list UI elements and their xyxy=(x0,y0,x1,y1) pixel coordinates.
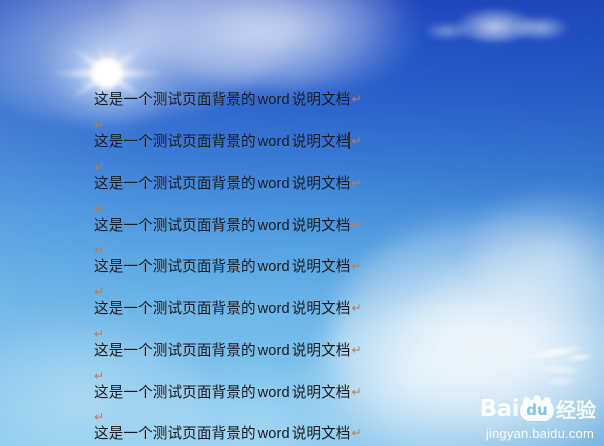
empty-paragraph-mark[interactable]: ↵ xyxy=(94,203,104,215)
document-paragraph[interactable]: 这是一个测试页面背景的word说明文档↵ xyxy=(94,177,362,192)
paragraph-text-cjk-lead: 这是一个测试页面背景的 xyxy=(94,384,256,401)
pilcrow-icon: ↵ xyxy=(350,176,361,190)
paragraph-text-latin: word xyxy=(256,218,292,234)
pilcrow-icon: ↵ xyxy=(350,134,361,148)
paragraph-text-cjk-lead: 这是一个测试页面背景的 xyxy=(94,91,256,108)
document-paragraph[interactable]: 这是一个测试页面背景的word说明文档↵ xyxy=(94,135,362,150)
document-text-body[interactable]: 这是一个测试页面背景的word说明文档↵ ↵ 这是一个测试页面背景的word说明… xyxy=(0,0,604,446)
baidu-jingyan-watermark: Bai du 经验 jingyan.baidu.com xyxy=(438,396,596,442)
document-paragraph[interactable]: 这是一个测试页面背景的word说明文档↵ xyxy=(94,302,362,317)
pilcrow-icon: ↵ xyxy=(350,218,361,232)
baidu-paw-icon: du xyxy=(520,397,554,422)
word-page-with-background: 这是一个测试页面背景的word说明文档↵ ↵ 这是一个测试页面背景的word说明… xyxy=(0,0,604,446)
empty-paragraph-mark[interactable]: ↵ xyxy=(94,286,104,298)
pilcrow-icon: ↵ xyxy=(350,343,361,357)
paragraph-text-cjk-lead: 这是一个测试页面背景的 xyxy=(94,258,256,275)
paragraph-text-cjk-tail: 说明文档 xyxy=(292,258,351,275)
paragraph-text-latin: word xyxy=(256,385,292,401)
text-cursor xyxy=(348,132,350,149)
empty-paragraph-mark[interactable]: ↵ xyxy=(94,161,104,173)
pilcrow-icon: ↵ xyxy=(350,92,361,106)
paragraph-text-cjk-tail: 说明文档 xyxy=(292,217,351,234)
pilcrow-icon: ↵ xyxy=(350,301,361,315)
pilcrow-icon: ↵ xyxy=(350,426,361,440)
document-paragraph[interactable]: 这是一个测试页面背景的word说明文档↵ xyxy=(94,344,362,359)
empty-paragraph-mark[interactable]: ↵ xyxy=(94,411,104,423)
empty-paragraph-mark[interactable]: ↵ xyxy=(94,328,104,340)
paragraph-text-cjk-tail: 说明文档 xyxy=(292,425,351,442)
watermark-brand-du: du xyxy=(520,400,554,421)
watermark-logo-row: Bai du 经验 xyxy=(438,396,596,423)
paragraph-text-latin: word xyxy=(256,301,292,317)
empty-paragraph-mark[interactable]: ↵ xyxy=(94,119,104,131)
paragraph-text-cjk-lead: 这是一个测试页面背景的 xyxy=(94,342,256,359)
empty-paragraph-mark[interactable]: ↵ xyxy=(94,244,104,256)
watermark-url: jingyan.baidu.com xyxy=(438,423,596,440)
paragraph-text-cjk-tail: 说明文档 xyxy=(292,342,351,359)
paragraph-text-latin: word xyxy=(256,134,292,150)
paragraph-text-cjk-lead: 这是一个测试页面背景的 xyxy=(94,133,256,150)
paragraph-text-cjk-tail: 说明文档 xyxy=(292,133,351,150)
document-paragraph[interactable]: 这是一个测试页面背景的word说明文档↵ xyxy=(94,219,362,234)
paragraph-text-cjk-lead: 这是一个测试页面背景的 xyxy=(94,425,256,442)
paragraph-text-latin: word xyxy=(256,343,292,359)
paragraph-text-cjk-lead: 这是一个测试页面背景的 xyxy=(94,300,256,317)
paragraph-text-cjk-tail: 说明文档 xyxy=(292,300,351,317)
paragraph-text-cjk-tail: 说明文档 xyxy=(292,175,351,192)
pilcrow-icon: ↵ xyxy=(350,259,361,273)
paragraph-text-cjk-tail: 说明文档 xyxy=(292,384,351,401)
paragraph-text-cjk-tail: 说明文档 xyxy=(292,91,351,108)
empty-paragraph-mark[interactable]: ↵ xyxy=(94,370,104,382)
paragraph-text-latin: word xyxy=(256,92,292,108)
document-paragraph[interactable]: 这是一个测试页面背景的word说明文档↵ xyxy=(94,427,362,442)
paragraph-text-latin: word xyxy=(256,259,292,275)
document-paragraph[interactable]: 这是一个测试页面背景的word说明文档↵ xyxy=(94,386,362,401)
watermark-brand-cjk: 经验 xyxy=(556,400,596,420)
watermark-brand-latin: Bai xyxy=(480,398,519,421)
paragraph-text-cjk-lead: 这是一个测试页面背景的 xyxy=(94,175,256,192)
document-paragraph[interactable]: 这是一个测试页面背景的word说明文档↵ xyxy=(94,260,362,275)
paragraph-text-cjk-lead: 这是一个测试页面背景的 xyxy=(94,217,256,234)
paragraph-text-latin: word xyxy=(256,176,292,192)
pilcrow-icon: ↵ xyxy=(350,385,361,399)
paragraph-text-latin: word xyxy=(256,426,292,442)
document-paragraph[interactable]: 这是一个测试页面背景的word说明文档↵ xyxy=(94,93,362,108)
